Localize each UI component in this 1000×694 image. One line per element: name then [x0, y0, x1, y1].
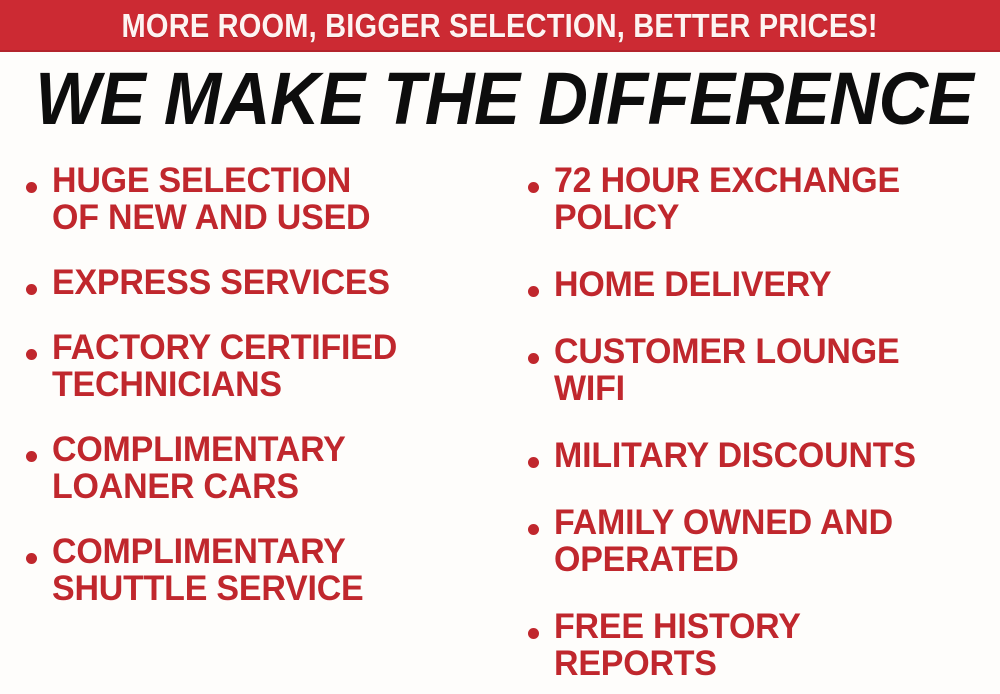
bullet-dot-icon: [528, 353, 539, 364]
bullet-dot-icon: [528, 524, 539, 535]
list-item-label: COMPLIMENTARY LOANER CARS: [52, 431, 483, 505]
list-item: COMPLIMENTARY SHUTTLE SERVICE: [22, 533, 496, 607]
list-item: COMPLIMENTARY LOANER CARS: [22, 431, 496, 505]
list-item: FREE HISTORY REPORTS: [524, 608, 1000, 682]
bullet-dot-icon: [26, 553, 37, 564]
feature-list-right: 72 HOUR EXCHANGE POLICY HOME DELIVERY CU…: [500, 162, 1000, 694]
list-item-label: CUSTOMER LOUNGE WIFI: [554, 333, 987, 407]
list-item: MILITARY DISCOUNTS: [524, 437, 1000, 474]
bullet-dot-icon: [26, 451, 37, 462]
list-item-label: COMPLIMENTARY SHUTTLE SERVICE: [52, 533, 483, 607]
list-item: FAMILY OWNED AND OPERATED: [524, 504, 1000, 578]
main-headline-text: WE MAKE THE DIFFERENCE: [35, 62, 973, 136]
list-item-label: FACTORY CERTIFIED TECHNICIANS: [52, 329, 483, 403]
bullet-dot-icon: [26, 284, 37, 295]
feature-list-left: HUGE SELECTION OF NEW AND USED EXPRESS S…: [0, 162, 500, 635]
list-item-label: 72 HOUR EXCHANGE POLICY: [554, 162, 987, 236]
list-item-label: HOME DELIVERY: [554, 266, 987, 303]
bullet-dot-icon: [528, 286, 539, 297]
main-headline: WE MAKE THE DIFFERENCE: [0, 62, 1000, 136]
top-banner: MORE ROOM, BIGGER SELECTION, BETTER PRIC…: [0, 0, 1000, 52]
list-item: CUSTOMER LOUNGE WIFI: [524, 333, 1000, 407]
promotional-poster: MORE ROOM, BIGGER SELECTION, BETTER PRIC…: [0, 0, 1000, 694]
list-item: HOME DELIVERY: [524, 266, 1000, 303]
list-item-label: HUGE SELECTION OF NEW AND USED: [52, 162, 483, 236]
list-item-label: FREE HISTORY REPORTS: [554, 608, 987, 682]
bullet-dot-icon: [528, 182, 539, 193]
list-item: FACTORY CERTIFIED TECHNICIANS: [22, 329, 496, 403]
feature-lists: HUGE SELECTION OF NEW AND USED EXPRESS S…: [0, 162, 1000, 694]
bullet-dot-icon: [528, 457, 539, 468]
list-item: HUGE SELECTION OF NEW AND USED: [22, 162, 496, 236]
bullet-dot-icon: [26, 349, 37, 360]
list-item-label: FAMILY OWNED AND OPERATED: [554, 504, 987, 578]
list-item-label: MILITARY DISCOUNTS: [554, 437, 987, 474]
banner-headline-text: MORE ROOM, BIGGER SELECTION, BETTER PRIC…: [122, 9, 878, 42]
list-item: 72 HOUR EXCHANGE POLICY: [524, 162, 1000, 236]
bullet-dot-icon: [26, 182, 37, 193]
list-item-label: EXPRESS SERVICES: [52, 264, 483, 301]
list-item: EXPRESS SERVICES: [22, 264, 496, 301]
bullet-dot-icon: [528, 628, 539, 639]
